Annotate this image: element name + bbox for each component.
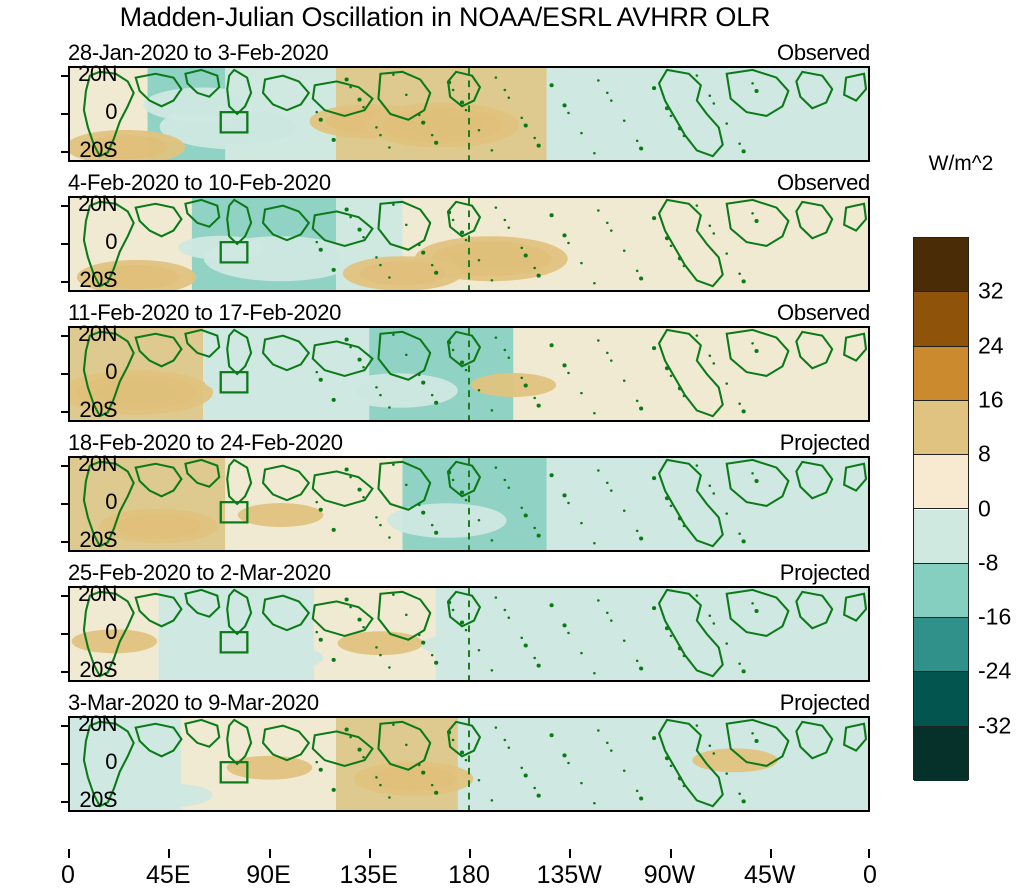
panel-header: 25-Feb-2020 to 2-Mar-2020Projected (68, 560, 870, 586)
y-axis-label: 20S (79, 527, 117, 553)
x-axis-label: 45E (146, 861, 190, 890)
map-field (70, 68, 868, 160)
colorbar-tick-label: 0 (978, 495, 991, 522)
y-axis-tick (61, 335, 70, 337)
x-axis-label: 135E (340, 861, 398, 890)
panel-header: 4-Feb-2020 to 10-Feb-2020Observed (68, 170, 870, 196)
colorbar-band (914, 672, 968, 726)
y-axis-label: 20S (79, 267, 117, 293)
map-panel (68, 196, 870, 292)
panel-header: 18-Feb-2020 to 24-Feb-2020Projected (68, 430, 870, 456)
colorbar-tick-label: 24 (978, 332, 1004, 359)
colorbar-band (914, 238, 968, 292)
y-axis-tick (61, 541, 70, 543)
y-axis-tick (61, 595, 70, 597)
colorbar (913, 237, 969, 780)
x-axis-tick (269, 849, 271, 858)
map-field (70, 328, 868, 420)
y-axis-label: 0 (105, 229, 117, 255)
y-axis-label: 0 (105, 359, 117, 385)
map-panel (68, 456, 870, 552)
x-axis: 045E90E135E180135W90W45W0 (68, 849, 870, 885)
y-axis-tick (61, 465, 70, 467)
y-axis-tick (61, 411, 70, 413)
x-axis-label: 180 (448, 861, 490, 890)
y-axis-label: 20N (78, 61, 117, 87)
colorbar-tick-label: -8 (978, 549, 998, 576)
colorbar-tick-label: 32 (978, 278, 1004, 305)
panel-header: 28-Jan-2020 to 3-Feb-2020Observed (68, 40, 870, 66)
panel-status-badge: Observed (777, 170, 870, 196)
y-axis-tick (61, 243, 70, 245)
x-axis-tick (469, 849, 471, 858)
colorbar-band (914, 727, 968, 781)
y-axis-tick (61, 151, 70, 153)
page-title: Madden-Julian Oscillation in NOAA/ESRL A… (0, 2, 890, 33)
y-axis-label: 20S (79, 787, 117, 813)
y-axis-tick (61, 725, 70, 727)
map-panel (68, 66, 870, 162)
y-axis-tick (61, 633, 70, 635)
y-axis-tick (61, 801, 70, 803)
map-panel (68, 716, 870, 812)
panel-header: 3-Mar-2020 to 9-Mar-2020Projected (68, 690, 870, 716)
panel-header: 11-Feb-2020 to 17-Feb-2020Observed (68, 300, 870, 326)
y-axis-label: 0 (105, 619, 117, 645)
colorbar-band (914, 618, 968, 672)
x-axis-label: 90E (246, 861, 290, 890)
colorbar-tick-label: 8 (978, 441, 991, 468)
y-axis-label: 0 (105, 489, 117, 515)
y-axis-label: 20N (78, 451, 117, 477)
colorbar-band (914, 401, 968, 455)
colorbar-tick-label: -24 (978, 658, 1011, 685)
y-axis-label: 20N (78, 581, 117, 607)
map-field (70, 588, 868, 680)
y-axis-tick (61, 113, 70, 115)
y-axis-tick (61, 671, 70, 673)
x-axis-tick (868, 849, 870, 858)
x-axis-tick (770, 849, 772, 858)
map-field (70, 718, 868, 810)
y-axis-label: 0 (105, 99, 117, 125)
x-axis-label: 135W (537, 861, 602, 890)
y-axis-label: 20N (78, 191, 117, 217)
panel-status-badge: Projected (780, 430, 870, 456)
y-axis-tick (61, 763, 70, 765)
x-axis-tick (569, 849, 571, 858)
x-axis-tick (369, 849, 371, 858)
y-axis-tick (61, 373, 70, 375)
colorbar-band (914, 564, 968, 618)
map-panel (68, 586, 870, 682)
y-axis-tick (61, 75, 70, 77)
map-field (70, 198, 868, 290)
colorbar-tick-label: -32 (978, 712, 1011, 739)
colorbar-band (914, 455, 968, 509)
y-axis-label: 20S (79, 657, 117, 683)
x-axis-tick (168, 849, 170, 858)
panel-status-badge: Projected (780, 690, 870, 716)
panel-status-badge: Projected (780, 560, 870, 586)
y-axis-tick (61, 503, 70, 505)
y-axis-label: 20N (78, 321, 117, 347)
x-axis-label: 45W (744, 861, 795, 890)
x-axis-label: 90W (644, 861, 695, 890)
x-axis-label: 0 (61, 861, 75, 890)
x-axis-tick (68, 849, 70, 858)
map-panel (68, 326, 870, 422)
mjo-olr-figure: Madden-Julian Oscillation in NOAA/ESRL A… (0, 0, 1021, 888)
colorbar-tick-label: 16 (978, 386, 1004, 413)
y-axis-label: 20S (79, 397, 117, 423)
x-axis-label: 0 (863, 861, 877, 890)
colorbar-title: W/m^2 (905, 152, 1017, 176)
y-axis-label: 20N (78, 711, 117, 737)
colorbar-band (914, 292, 968, 346)
map-field (70, 458, 868, 550)
colorbar-band (914, 347, 968, 401)
y-axis-tick (61, 205, 70, 207)
colorbar-band (914, 510, 968, 564)
panel-status-badge: Observed (777, 300, 870, 326)
x-axis-tick (670, 849, 672, 858)
y-axis-label: 0 (105, 749, 117, 775)
y-axis-tick (61, 281, 70, 283)
colorbar-tick-label: -16 (978, 604, 1011, 631)
y-axis-label: 20S (79, 137, 117, 163)
panel-status-badge: Observed (777, 40, 870, 66)
